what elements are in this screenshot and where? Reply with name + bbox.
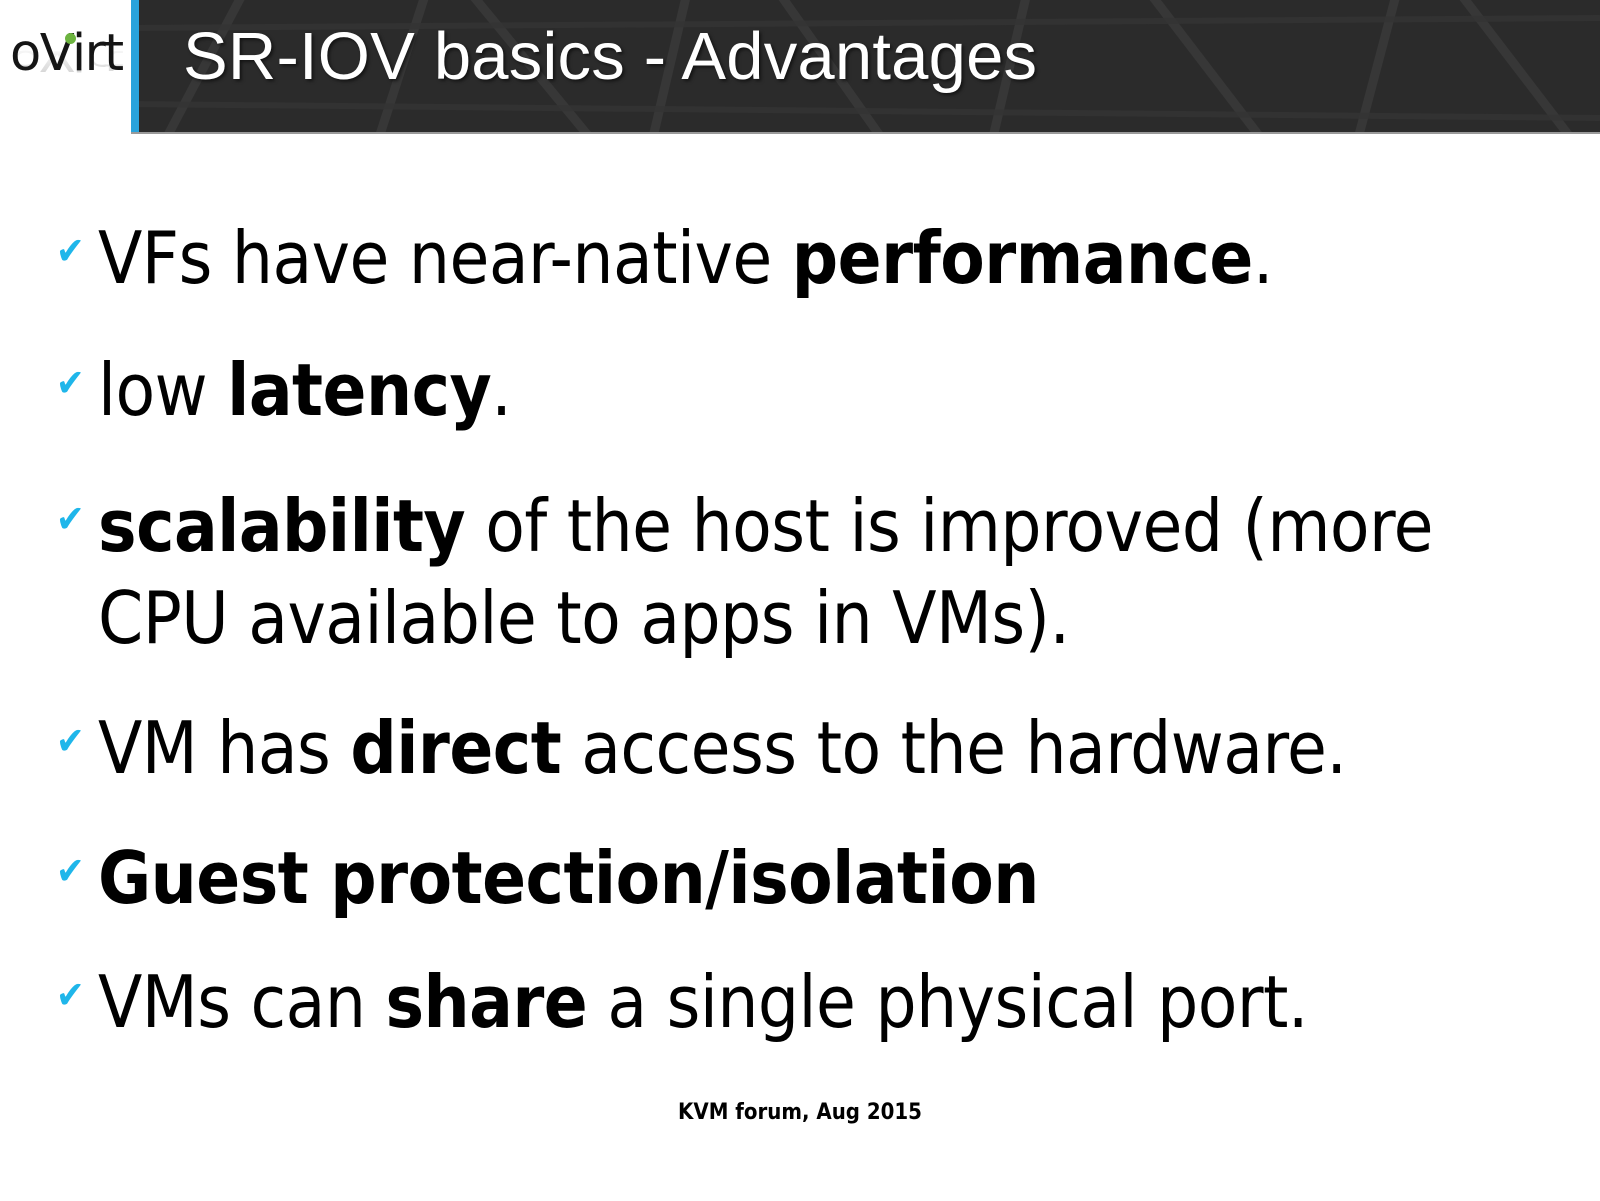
ovirt-logo-reflection: oVirt [10, 44, 123, 75]
list-item-label: Guest protection/isolation [98, 832, 1560, 924]
list-item: ✔ VFs have near-native performance. [50, 212, 1560, 304]
slide-footer: KVM forum, Aug 2015 [0, 1100, 1600, 1125]
slide-content: ✔ VFs have near-native performance. ✔ lo… [0, 134, 1600, 1114]
check-mark-icon: ✔ [56, 854, 86, 888]
ovirt-logo: oVirt oVirt [4, 26, 128, 100]
list-item-label: scalability of the host is improved (mor… [98, 480, 1560, 664]
advantages-bullet-list: ✔ VFs have near-native performance. ✔ lo… [50, 212, 1560, 1048]
check-mark-icon: ✔ [56, 724, 86, 758]
slide-header: oVirt oVirt SR-IOV basics - Advantages [0, 0, 1600, 134]
list-item-label: VFs have near-native performance. [98, 212, 1560, 304]
slide: oVirt oVirt SR-IOV basics - Advantages ✔… [0, 0, 1600, 1201]
list-item-label: VM has direct access to the hardware. [98, 702, 1560, 794]
list-item: ✔ VMs can share a single physical port. [50, 956, 1560, 1048]
green-dot-icon [65, 33, 76, 44]
check-mark-icon: ✔ [56, 366, 86, 400]
check-mark-icon: ✔ [56, 502, 86, 536]
header-accent-bar [130, 0, 139, 132]
list-item: ✔ scalability of the host is improved (m… [50, 480, 1560, 664]
logo-pane: oVirt oVirt [0, 0, 131, 134]
list-item: ✔ Guest protection/isolation [50, 832, 1560, 924]
list-item-label: low latency. [98, 344, 1560, 436]
page-title: SR-IOV basics - Advantages [183, 18, 1037, 95]
list-item: ✔ low latency. [50, 344, 1560, 436]
check-mark-icon: ✔ [56, 978, 86, 1012]
check-mark-icon: ✔ [56, 234, 86, 268]
list-item-label: VMs can share a single physical port. [98, 956, 1560, 1048]
list-item: ✔ VM has direct access to the hardware. [50, 702, 1560, 794]
